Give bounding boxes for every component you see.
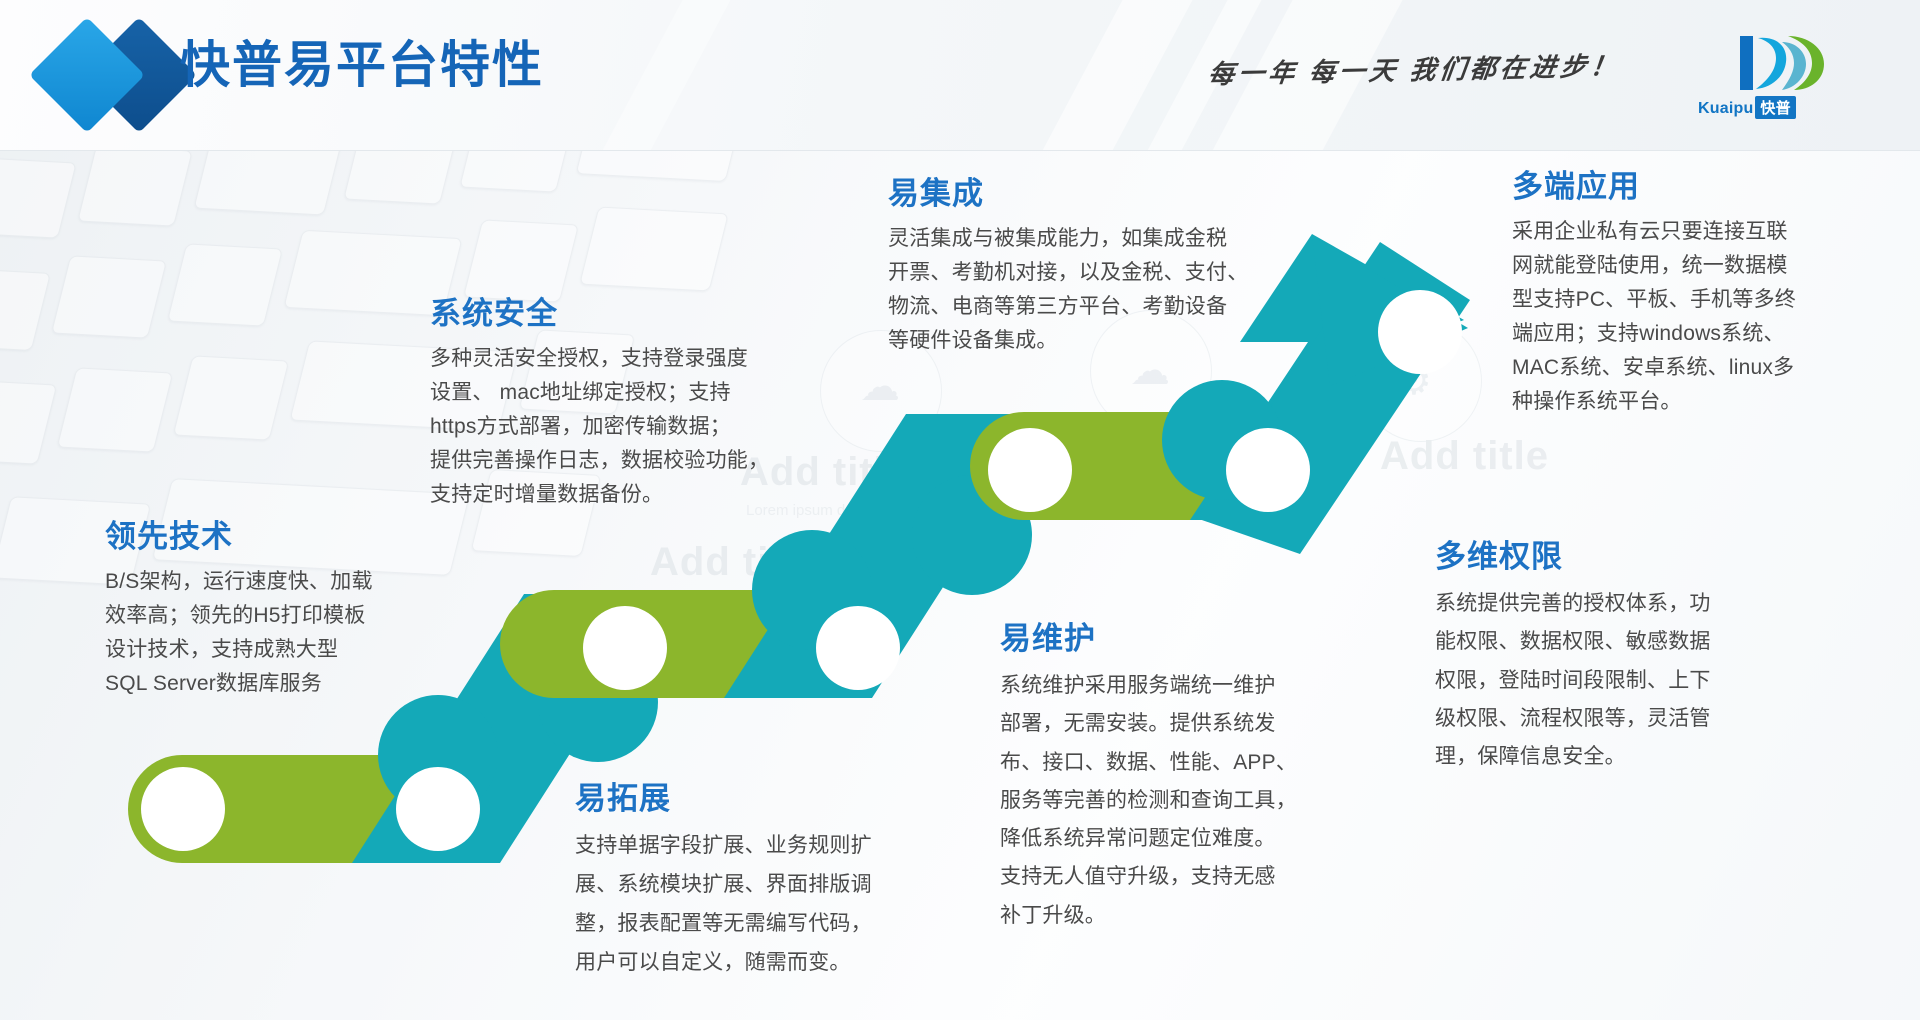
feature-body-line: 多种灵活安全授权，支持登录强度: [430, 342, 770, 376]
feature-body: 灵活集成与被集成能力，如集成金税 开票、考勤机对接，以及金税、支付、 物流、电商…: [888, 222, 1288, 358]
feature-title: 多维权限: [1435, 538, 1775, 575]
feature-body-line: SQL Server数据库服务: [105, 667, 435, 701]
feature-title: 易拓展: [575, 780, 935, 817]
feature-body-line: 能权限、数据权限、敏感数据: [1435, 623, 1775, 661]
background-wash: [0, 0, 1920, 1020]
feature-body-line: 系统维护采用服务端统一维护: [1000, 667, 1360, 705]
feature-body-line: 整，报表配置等无需编写代码，: [575, 905, 935, 944]
feature-body: B/S架构，运行速度快、加载 效率高；领先的H5打印模板 设计技术，支持成熟大型…: [105, 565, 435, 701]
ghost-word: Add title: [1380, 434, 1549, 479]
feature-body: 支持单据字段扩展、业务规则扩 展、系统模块扩展、界面排版调 整，报表配置等无需编…: [575, 827, 935, 982]
logo-chinese-text: 快普: [1755, 96, 1795, 119]
feature-body-line: 种操作系统平台。: [1512, 385, 1862, 419]
stair-step-2-green: [500, 590, 830, 698]
feature-body-line: 提供完善操作日志，数据校验功能，: [430, 444, 770, 478]
feature-title: 易维护: [1000, 620, 1360, 657]
kp-logo-mark-icon: [1736, 32, 1832, 92]
logo-latin-text: Kuaipu: [1698, 100, 1753, 117]
feature-body-line: B/S架构，运行速度快、加载: [105, 565, 435, 599]
feature-body-line: 灵活集成与被集成能力，如集成金税: [888, 222, 1288, 256]
feature-title: 领先技术: [105, 518, 435, 555]
slide-header: 快普易平台特性 每一年 每一天 我们都在进步！ Kuaipu快普: [0, 0, 1920, 151]
feature-body-line: 用户可以自定义，随需而变。: [575, 944, 935, 983]
feature-body: 多种灵活安全授权，支持登录强度 设置、 mac地址绑定授权；支持 https方式…: [430, 342, 770, 512]
feature-body: 采用企业私有云只要连接互联 网就能登陆使用，统一数据模 型支持PC、平板、手机等…: [1512, 215, 1862, 419]
feature-body: 系统提供完善的授权体系，功 能权限、数据权限、敏感数据 权限，登陆时间段限制、上…: [1435, 585, 1775, 776]
node-circle-1: [141, 767, 225, 851]
kuaipu-logo: Kuaipu快普: [1688, 32, 1868, 124]
page-title: 快普易平台特性: [180, 30, 544, 100]
company-slogan: 每一年 每一天 我们都在进步！: [1206, 46, 1623, 92]
stair-step-1-green: [128, 755, 458, 863]
feature-body-line: 部署，无需安装。提供系统发: [1000, 705, 1360, 743]
feature-body-line: 展、系统模块扩展、界面排版调: [575, 866, 935, 905]
feature-body-line: MAC系统、安卓系统、linux多: [1512, 351, 1862, 385]
feature-body-line: 采用企业私有云只要连接互联: [1512, 215, 1862, 249]
node-circle-2: [396, 767, 480, 851]
ghost-word: Add title: [650, 540, 819, 585]
feature-body-line: 系统提供完善的授权体系，功: [1435, 585, 1775, 623]
feature-body-line: 物流、电商等第三方平台、考勤设备: [888, 290, 1288, 324]
node-circle-3: [583, 606, 667, 690]
feature-body-line: 支持定时增量数据备份。: [430, 478, 770, 512]
feature-title: 易集成: [888, 175, 1288, 212]
feature-body-line: 设计技术，支持成熟大型: [105, 633, 435, 667]
logo-brand-text: Kuaipu快普: [1698, 96, 1868, 119]
feature-body-line: 支持单据字段扩展、业务规则扩: [575, 827, 935, 866]
slide-root: ☁ ☁ ⚙ Add title Add title Add title Lore…: [0, 0, 1920, 1020]
feature-block-leading-technology: 领先技术 B/S架构，运行速度快、加载 效率高；领先的H5打印模板 设计技术，支…: [105, 518, 435, 701]
node-circle-5: [988, 428, 1072, 512]
feature-body-line: 型支持PC、平板、手机等多终: [1512, 283, 1862, 317]
ghost-subtext: Lorem ipsum dolor sit amet: [746, 500, 927, 523]
feature-title: 系统安全: [430, 295, 770, 332]
feature-body-line: 端应用；支持windows系统、: [1512, 317, 1862, 351]
ghost-subtext: Lorem ipsum dolor sit amet: [1082, 494, 1263, 517]
feature-body-line: 网就能登陆使用，统一数据模: [1512, 249, 1862, 283]
feature-title: 多端应用: [1512, 168, 1862, 205]
stair-step-3-green: [970, 412, 1300, 520]
node-circle-4: [816, 606, 900, 690]
feature-body-line: 降低系统异常问题定位难度。: [1000, 820, 1360, 858]
feature-body-line: https方式部署，加密传输数据；: [430, 410, 770, 444]
node-circle-7: [1378, 290, 1462, 374]
feature-body-line: 等硬件设备集成。: [888, 324, 1288, 358]
feature-body-line: 开票、考勤机对接，以及金税、支付、: [888, 256, 1288, 290]
feature-block-multi-terminal-application: 多端应用 采用企业私有云只要连接互联 网就能登陆使用，统一数据模 型支持PC、平…: [1512, 168, 1862, 419]
node-circle-6: [1226, 428, 1310, 512]
feature-body-line: 布、接口、数据、性能、APP、: [1000, 744, 1360, 782]
feature-body-line: 理，保障信息安全。: [1435, 738, 1775, 776]
feature-body-line: 权限，登陆时间段限制、上下: [1435, 662, 1775, 700]
feature-block-system-security: 系统安全 多种灵活安全授权，支持登录强度 设置、 mac地址绑定授权；支持 ht…: [430, 295, 770, 512]
feature-body-line: 补丁升级。: [1000, 897, 1360, 935]
feature-block-easy-maintenance: 易维护 系统维护采用服务端统一维护 部署，无需安装。提供系统发 布、接口、数据、…: [1000, 620, 1360, 935]
feature-block-easy-integration: 易集成 灵活集成与被集成能力，如集成金税 开票、考勤机对接，以及金税、支付、 物…: [888, 175, 1288, 358]
feature-body-line: 设置、 mac地址绑定授权；支持: [430, 376, 770, 410]
feature-block-multi-dimensional-permissions: 多维权限 系统提供完善的授权体系，功 能权限、数据权限、敏感数据 权限，登陆时间…: [1435, 538, 1775, 776]
feature-body-line: 效率高；领先的H5打印模板: [105, 599, 435, 633]
feature-body: 系统维护采用服务端统一维护 部署，无需安装。提供系统发 布、接口、数据、性能、A…: [1000, 667, 1360, 935]
ghost-word: Add title: [1080, 444, 1249, 489]
feature-block-easy-extension: 易拓展 支持单据字段扩展、业务规则扩 展、系统模块扩展、界面排版调 整，报表配置…: [575, 780, 935, 983]
feature-body-line: 级权限、流程权限等，灵活管: [1435, 700, 1775, 738]
feature-body-line: 服务等完善的检测和查询工具，: [1000, 782, 1360, 820]
feature-body-line: 支持无人值守升级，支持无感: [1000, 858, 1360, 896]
